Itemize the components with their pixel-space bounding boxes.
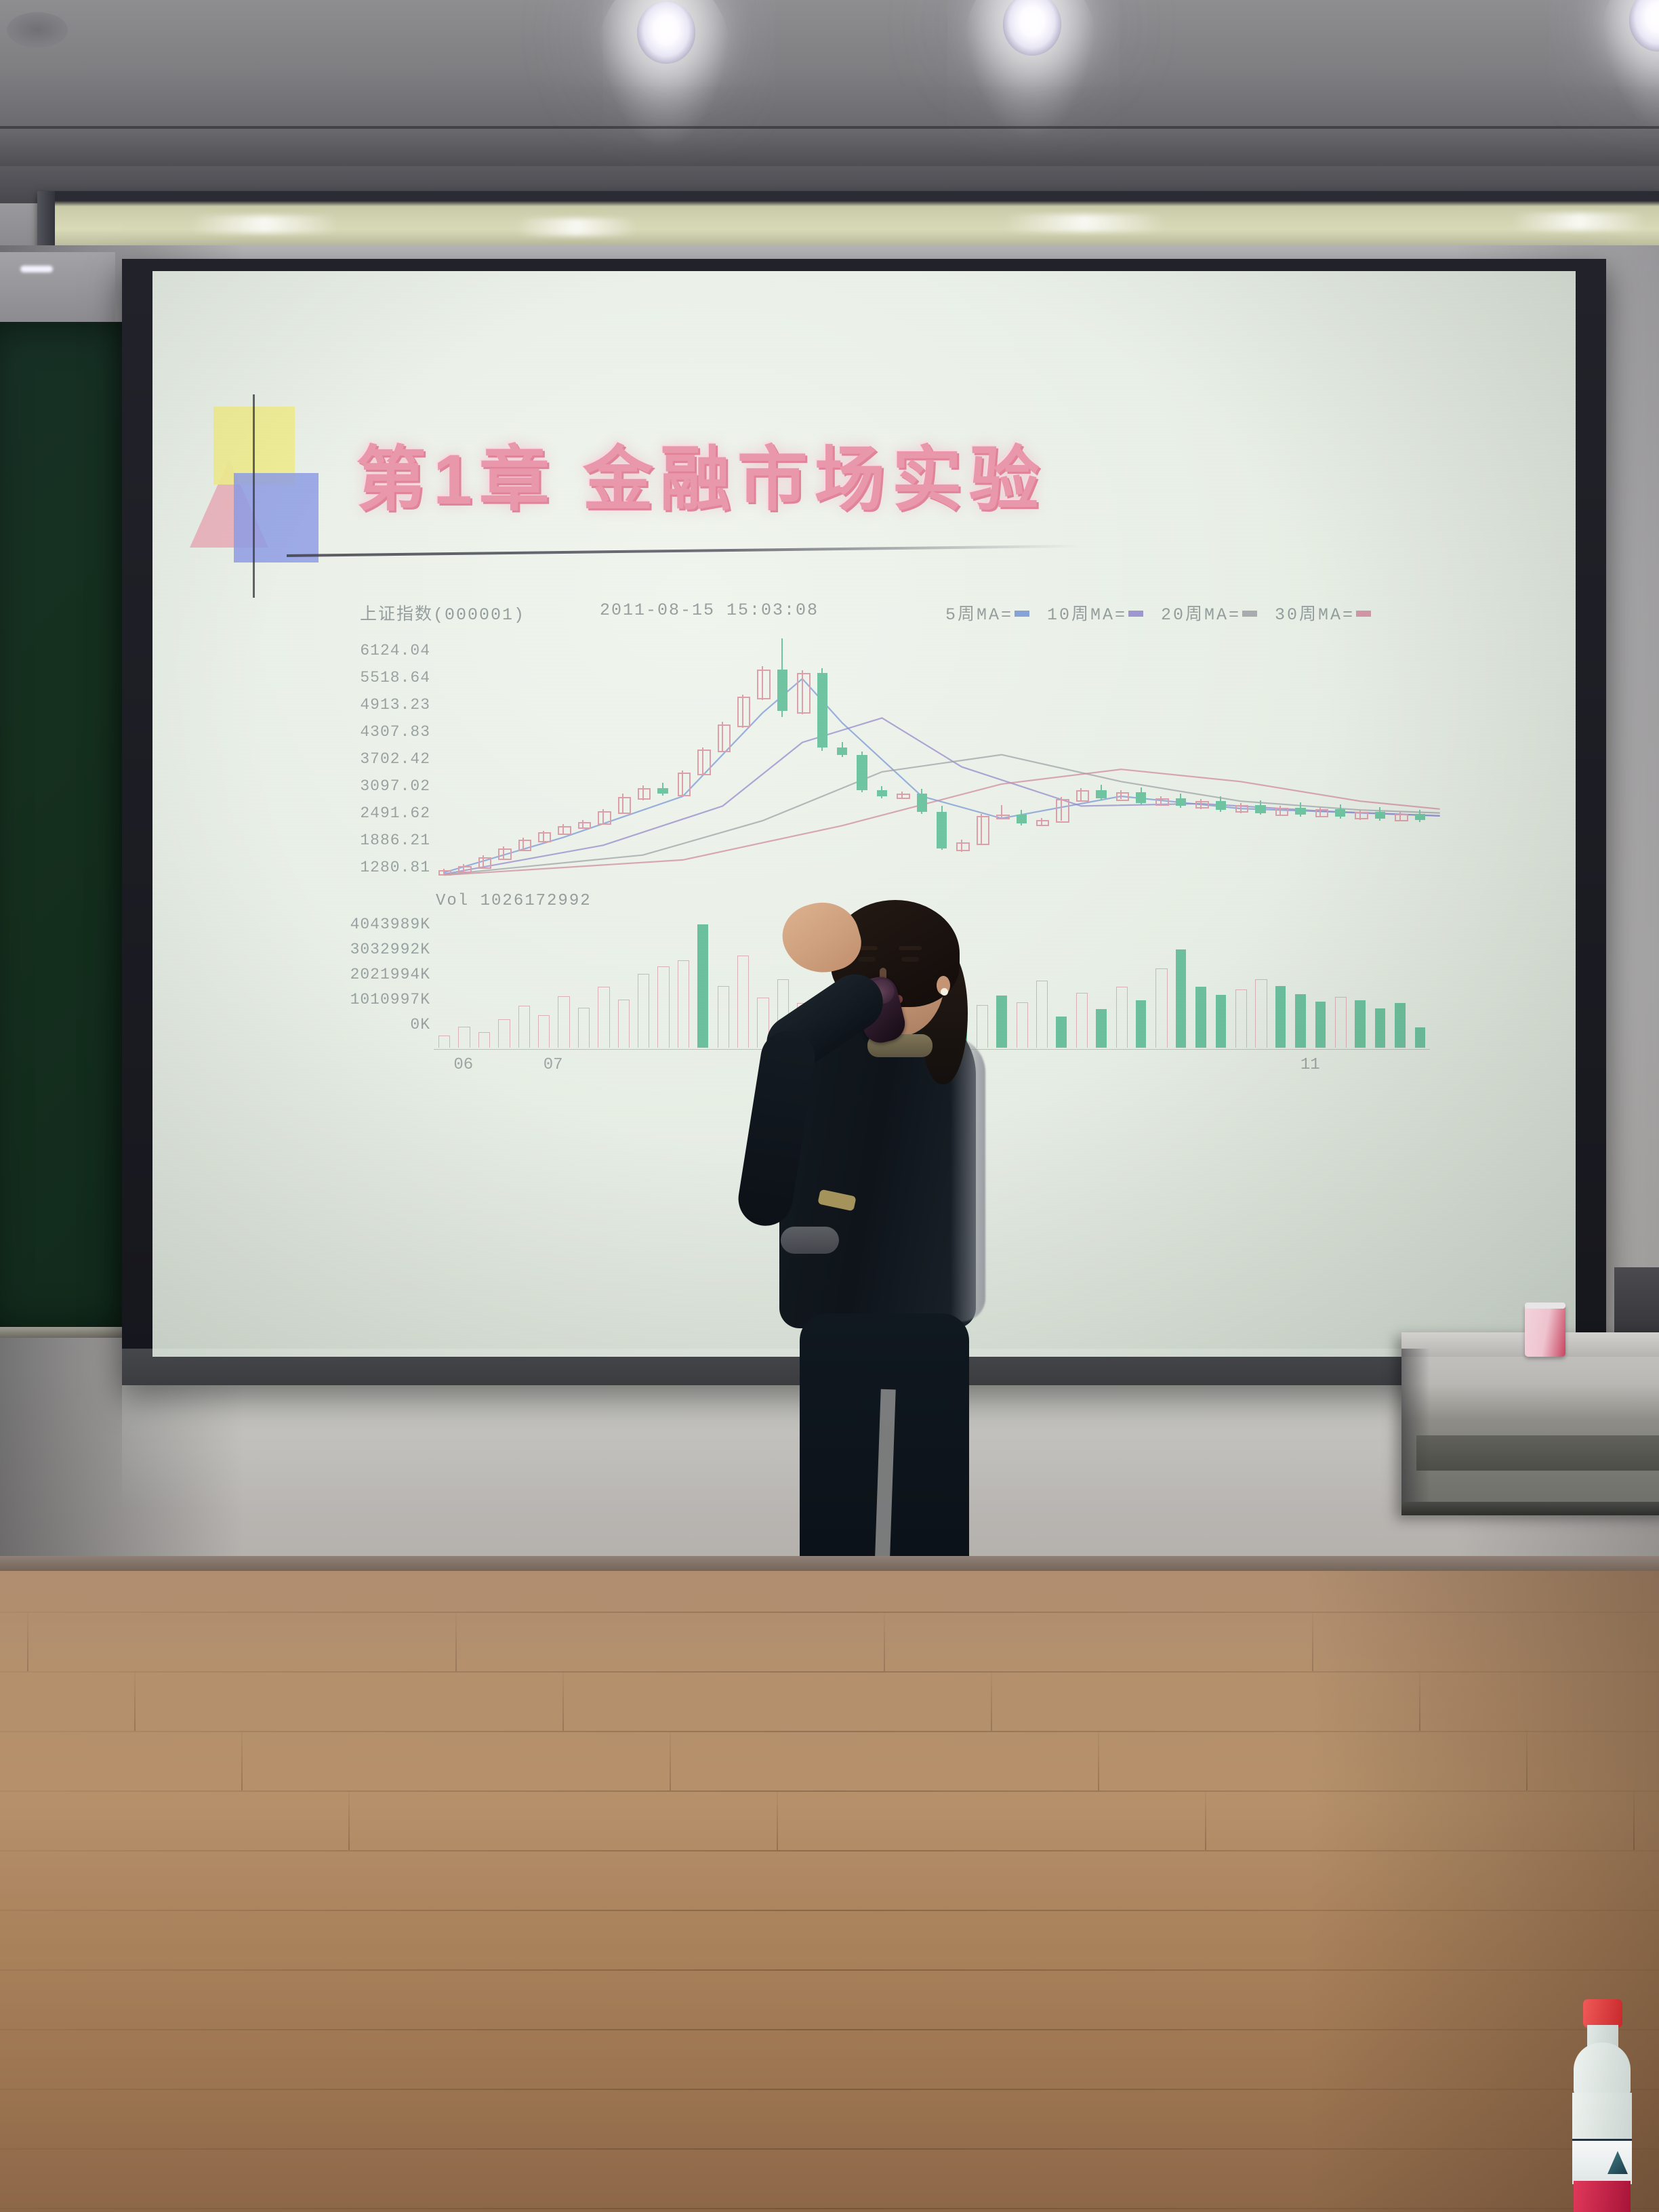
volume-bar bbox=[1076, 993, 1088, 1048]
volume-bar bbox=[1155, 968, 1167, 1048]
volume-bar bbox=[578, 1008, 590, 1048]
candlestick bbox=[757, 638, 767, 876]
volume-tick: 2021994K bbox=[295, 962, 430, 987]
presenter-eyebrow bbox=[899, 946, 922, 950]
candle-body bbox=[1036, 820, 1049, 827]
price-tick: 3702.42 bbox=[295, 745, 430, 773]
slide-title: 第1章 金融市场实验 bbox=[356, 422, 1271, 524]
candlestick bbox=[498, 638, 508, 876]
volume-bar bbox=[1415, 1027, 1425, 1048]
candle-body bbox=[657, 788, 668, 793]
volume-bar bbox=[1176, 949, 1186, 1048]
floor-plank-seam bbox=[884, 1612, 885, 1671]
vertical-line-decoration bbox=[253, 394, 255, 598]
candle-body bbox=[737, 697, 750, 727]
volume-bar bbox=[1255, 979, 1267, 1048]
candle-body bbox=[837, 747, 847, 756]
candle-body bbox=[538, 832, 551, 842]
candle-body bbox=[1315, 809, 1328, 818]
floor-plank-line bbox=[0, 2089, 1659, 2090]
candle-body bbox=[1295, 808, 1305, 815]
candle-body bbox=[638, 788, 651, 799]
candlestick bbox=[1235, 638, 1246, 876]
candle-body bbox=[757, 670, 770, 699]
presenter-eye bbox=[858, 957, 876, 962]
price-tick: 6124.04 bbox=[295, 637, 430, 664]
candle-body bbox=[1355, 812, 1368, 819]
candle-body bbox=[1155, 798, 1168, 806]
candlestick bbox=[797, 638, 807, 876]
volume-bar bbox=[558, 996, 569, 1048]
volume-bar bbox=[1315, 1002, 1326, 1048]
candle-body bbox=[1375, 812, 1385, 819]
floor-plank-line bbox=[0, 1850, 1659, 1851]
candle-body bbox=[956, 842, 969, 851]
candle-body bbox=[478, 857, 491, 869]
candle-body bbox=[996, 815, 1009, 819]
volume-bar bbox=[458, 1027, 470, 1048]
candle-body bbox=[817, 673, 827, 747]
candlestick bbox=[1395, 638, 1405, 876]
volume-bar bbox=[438, 1036, 450, 1048]
candlestick bbox=[877, 638, 887, 876]
volume-bar bbox=[657, 966, 669, 1048]
podium-shelf-slot bbox=[1416, 1435, 1659, 1471]
chart-timestamp: 2011-08-15 15:03:08 bbox=[600, 600, 819, 620]
podium bbox=[1401, 1332, 1659, 1515]
candlestick bbox=[1415, 638, 1425, 876]
candlestick bbox=[1255, 638, 1265, 876]
floor-plank-line bbox=[0, 2029, 1659, 2030]
candle-body bbox=[618, 797, 631, 814]
price-tick: 1886.21 bbox=[295, 827, 430, 854]
candlestick bbox=[1076, 638, 1086, 876]
candle-body bbox=[1195, 801, 1208, 808]
candlestick bbox=[956, 638, 966, 876]
candlestick bbox=[937, 638, 947, 876]
volume-bar bbox=[1355, 1000, 1365, 1048]
floor-plank-seam bbox=[1633, 1790, 1635, 1850]
volume-axis-ticks: 4043989K3032992K2021994K1010997K0K bbox=[295, 912, 430, 1038]
volume-tick: 0K bbox=[295, 1012, 430, 1038]
candle-body bbox=[1415, 814, 1425, 820]
chart-ma-legend: 5周MA=10周MA=20周MA=30周MA= bbox=[945, 600, 1389, 625]
candlestick bbox=[598, 638, 608, 876]
volume-bar bbox=[638, 974, 649, 1048]
candle-body bbox=[578, 822, 591, 829]
candle-body bbox=[458, 866, 471, 873]
candle-body bbox=[1176, 798, 1186, 806]
candle-body bbox=[1017, 815, 1027, 823]
floor-plank-line bbox=[0, 2208, 1659, 2209]
candlestick bbox=[777, 638, 787, 876]
volume-bar bbox=[1116, 987, 1128, 1048]
chalkboard-tray bbox=[0, 1327, 134, 1338]
candle-body bbox=[718, 724, 731, 752]
presenter-earring bbox=[941, 988, 948, 996]
ma-legend-label: 10周MA= bbox=[1047, 605, 1127, 625]
volume-bar bbox=[1096, 1009, 1106, 1048]
candle-body bbox=[797, 673, 810, 714]
floor-plank-seam bbox=[670, 1731, 671, 1790]
ma-legend-swatch bbox=[1242, 611, 1257, 617]
floor-plank-line bbox=[0, 1910, 1659, 1911]
volume-bar bbox=[1375, 1008, 1385, 1048]
floor-plank-seam bbox=[562, 1671, 564, 1731]
candle-body bbox=[438, 870, 451, 876]
candle-body bbox=[1275, 808, 1288, 815]
candlestick bbox=[1096, 638, 1106, 876]
price-tick: 4307.83 bbox=[295, 718, 430, 745]
floor-plank-seam bbox=[1419, 1671, 1420, 1731]
floor-plank-line bbox=[0, 2148, 1659, 2150]
ma-legend-swatch bbox=[1015, 611, 1029, 617]
volume-bar bbox=[518, 1006, 530, 1048]
candle-body bbox=[598, 811, 611, 825]
candlestick bbox=[1295, 638, 1305, 876]
candlestick bbox=[817, 638, 827, 876]
price-tick: 1280.81 bbox=[295, 854, 430, 881]
volume-bar bbox=[538, 1015, 550, 1048]
candle-body bbox=[1216, 801, 1226, 810]
candlestick bbox=[558, 638, 568, 876]
candle-body bbox=[1056, 799, 1069, 822]
candlestick bbox=[438, 638, 449, 876]
title-underline bbox=[287, 545, 1080, 557]
candle-body bbox=[777, 670, 787, 711]
candlestick bbox=[518, 638, 529, 876]
candlestick bbox=[1355, 638, 1365, 876]
candlestick bbox=[578, 638, 588, 876]
candlestick bbox=[458, 638, 468, 876]
candlestick bbox=[1375, 638, 1385, 876]
candle-body bbox=[1116, 792, 1129, 801]
candlestick bbox=[618, 638, 628, 876]
floor-plank-seam bbox=[134, 1671, 136, 1731]
candlestick bbox=[857, 638, 867, 876]
floor-plank-line bbox=[0, 1612, 1659, 1613]
floor-plank-seam bbox=[27, 1612, 28, 1671]
candlestick bbox=[1155, 638, 1166, 876]
price-axis-ticks: 6124.045518.644913.234307.833702.423097.… bbox=[295, 637, 430, 881]
volume-total-label: Vol 1026172992 bbox=[436, 892, 592, 910]
ma-legend-label: 5周MA= bbox=[945, 605, 1013, 625]
candlestick bbox=[478, 638, 489, 876]
wall-panel-glint bbox=[20, 266, 53, 272]
presenter-sleeve-cuff bbox=[781, 1227, 839, 1254]
candlestick bbox=[1056, 638, 1066, 876]
candlestick bbox=[977, 638, 987, 876]
candlestick bbox=[1116, 638, 1126, 876]
candlestick bbox=[697, 638, 708, 876]
candle-body bbox=[917, 794, 927, 812]
pink-cup bbox=[1525, 1304, 1565, 1357]
valance-gloss bbox=[190, 216, 339, 233]
candle-body bbox=[1235, 805, 1248, 813]
price-tick: 4913.23 bbox=[295, 691, 430, 718]
floor-plank-line bbox=[0, 1969, 1659, 1971]
candle-body bbox=[558, 826, 571, 835]
bottle-shoulder bbox=[1574, 2043, 1631, 2097]
volume-bar bbox=[1136, 1000, 1146, 1048]
candlestick bbox=[1136, 638, 1146, 876]
price-tick: 2491.62 bbox=[295, 800, 430, 827]
presenter-backlight-rim bbox=[950, 1037, 985, 1322]
floor-plank-seam bbox=[348, 1790, 350, 1850]
volume-bar bbox=[1195, 987, 1206, 1048]
candlestick bbox=[737, 638, 747, 876]
x-tick: 06 bbox=[453, 1056, 473, 1074]
bottle-label bbox=[1572, 2139, 1632, 2184]
volume-bar bbox=[678, 960, 689, 1048]
ceiling-downlight bbox=[637, 1, 695, 64]
candlestick bbox=[538, 638, 548, 876]
valance-gloss bbox=[1003, 214, 1166, 232]
floor-plank-seam bbox=[1098, 1731, 1099, 1790]
wooden-floor bbox=[0, 1571, 1659, 2212]
podium-side-shadow bbox=[1401, 1349, 1430, 1515]
candle-body bbox=[857, 755, 867, 790]
chalkboard bbox=[0, 322, 137, 1332]
floor-plank-seam bbox=[777, 1790, 778, 1850]
candle-body bbox=[498, 848, 511, 860]
candle-body bbox=[897, 794, 909, 799]
valance-gloss bbox=[1511, 213, 1647, 230]
candle-body bbox=[1076, 790, 1089, 802]
candlestick bbox=[897, 638, 907, 876]
candle-body bbox=[1255, 805, 1265, 813]
volume-tick: 3032992K bbox=[295, 937, 430, 962]
volume-tick: 1010997K bbox=[295, 987, 430, 1012]
volume-bar bbox=[1395, 1003, 1405, 1048]
candlestick bbox=[1017, 638, 1027, 876]
candlestick bbox=[1315, 638, 1326, 876]
candle-body bbox=[697, 750, 710, 775]
candlestick bbox=[1176, 638, 1186, 876]
candlestick bbox=[638, 638, 648, 876]
valance-gloss bbox=[515, 218, 637, 236]
floor-plank-seam bbox=[455, 1612, 457, 1671]
price-tick: 3097.02 bbox=[295, 773, 430, 800]
candlestick bbox=[1036, 638, 1046, 876]
candle-body bbox=[678, 773, 691, 796]
floor-plank-seam bbox=[1526, 1731, 1528, 1790]
floor-plank-line bbox=[0, 1790, 1659, 1792]
candle-body bbox=[977, 816, 989, 845]
ma-legend-label: 20周MA= bbox=[1161, 605, 1241, 625]
floor-plank-seam bbox=[1312, 1612, 1313, 1671]
candlestick bbox=[1216, 638, 1226, 876]
volume-bar bbox=[598, 987, 609, 1048]
floor-plank-line bbox=[0, 1731, 1659, 1732]
bottle-cap bbox=[1583, 1999, 1622, 2028]
photo-scene: 第1章 金融市场实验 上证指数(000001) 2011-08-15 15:03… bbox=[0, 0, 1659, 2212]
candle-body bbox=[518, 840, 531, 851]
x-tick: 11 bbox=[1300, 1056, 1320, 1074]
ma-legend-label: 30周MA= bbox=[1275, 605, 1355, 625]
pink-cup-lip bbox=[1525, 1303, 1565, 1309]
volume-bar bbox=[478, 1032, 490, 1048]
candlestick bbox=[996, 638, 1006, 876]
ma-legend-swatch bbox=[1356, 611, 1371, 617]
floor-plank-seam bbox=[991, 1671, 992, 1731]
ceiling bbox=[0, 0, 1659, 173]
candle-body bbox=[1136, 792, 1146, 803]
candle-body bbox=[1096, 790, 1106, 798]
blue-square-decoration bbox=[234, 473, 319, 562]
podium-bottom-edge bbox=[1401, 1502, 1659, 1515]
candlestick bbox=[678, 638, 688, 876]
candle-body bbox=[1335, 809, 1345, 817]
wall-panel bbox=[0, 252, 115, 329]
candlestick bbox=[1195, 638, 1206, 876]
candlestick bbox=[917, 638, 927, 876]
volume-bar bbox=[1295, 994, 1305, 1048]
candlestick bbox=[657, 638, 668, 876]
volume-bar bbox=[1235, 989, 1247, 1048]
candlestick bbox=[1335, 638, 1345, 876]
water-bottle bbox=[1565, 1999, 1636, 2212]
ceiling-seam bbox=[0, 126, 1659, 129]
volume-bar bbox=[498, 1019, 510, 1048]
volume-tick: 4043989K bbox=[295, 912, 430, 937]
bottle-base bbox=[1574, 2181, 1631, 2212]
volume-bar bbox=[1216, 995, 1226, 1048]
floor-plank-seam bbox=[241, 1731, 243, 1790]
candlestick-plot bbox=[434, 638, 1430, 876]
candle-body bbox=[877, 790, 887, 796]
candlestick bbox=[837, 638, 847, 876]
ceiling-vent-icon bbox=[7, 12, 68, 47]
candlestick bbox=[718, 638, 728, 876]
x-tick: 07 bbox=[544, 1056, 563, 1074]
candle-body bbox=[1395, 814, 1408, 821]
presenter-eye bbox=[901, 957, 919, 962]
candle-body bbox=[937, 812, 947, 848]
volume-bar bbox=[618, 1000, 630, 1048]
floor-plank-seam bbox=[1205, 1790, 1206, 1850]
chart-symbol-label: 上证指数(000001) bbox=[360, 600, 525, 625]
volume-bar bbox=[1335, 997, 1347, 1048]
candlestick bbox=[1275, 638, 1286, 876]
ma-legend-swatch bbox=[1128, 611, 1143, 617]
floor-plank-line bbox=[0, 1671, 1659, 1673]
price-tick: 5518.64 bbox=[295, 664, 430, 691]
volume-bar bbox=[1275, 986, 1286, 1048]
